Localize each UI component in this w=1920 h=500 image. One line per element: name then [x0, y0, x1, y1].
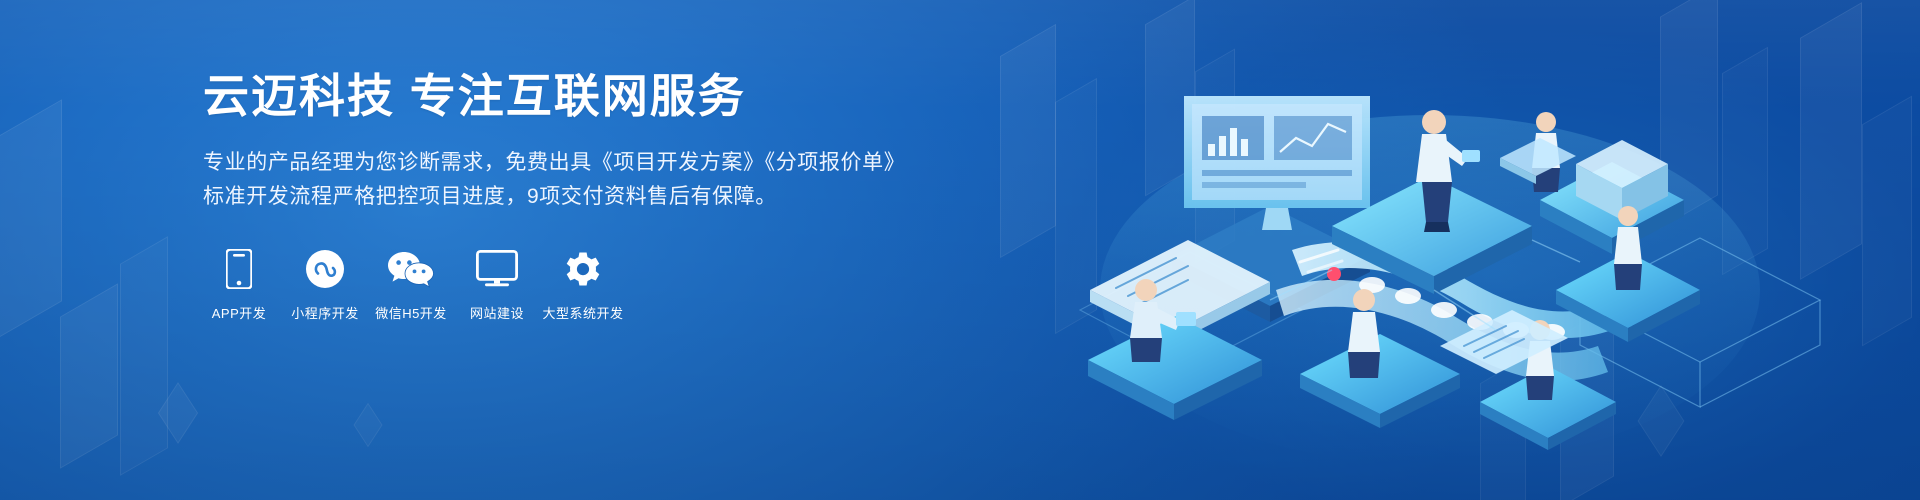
mobile-phone-icon [226, 248, 252, 290]
bg-prism [0, 99, 62, 343]
service-label: 微信H5开发 [375, 303, 447, 322]
service-label: APP开发 [212, 303, 267, 322]
wechat-icon [388, 248, 434, 290]
service-label: 小程序开发 [291, 303, 359, 322]
bg-diamond [354, 403, 383, 448]
banner-subtitle: 专业的产品经理为您诊断需求，免费出具《项目开发方案》《分项报价单》 标准开发流程… [203, 146, 963, 214]
banner-content: 云迈科技 专注互联网服务 专业的产品经理为您诊断需求，免费出具《项目开发方案》《… [203, 68, 963, 322]
isometric-illustration [940, 0, 1920, 500]
service-item-app[interactable]: APP开发 [203, 248, 275, 322]
gear-icon [563, 248, 603, 290]
service-item-wechat-h5[interactable]: 微信H5开发 [375, 248, 447, 322]
service-item-website[interactable]: 网站建设 [461, 248, 533, 322]
service-label: 网站建设 [470, 303, 524, 322]
hero-banner: 云迈科技 专注互联网服务 专业的产品经理为您诊断需求，免费出具《项目开发方案》《… [0, 0, 1920, 500]
service-item-system[interactable]: 大型系统开发 [547, 248, 619, 322]
monitor-icon [476, 248, 518, 290]
service-label: 大型系统开发 [543, 303, 624, 322]
bg-prism [120, 236, 168, 476]
service-list: APP开发 小程序开发 [203, 248, 963, 322]
bg-prism [60, 283, 118, 468]
subtitle-line-2: 标准开发流程严格把控项目进度，9项交付资料售后有保障。 [203, 180, 963, 214]
service-item-miniprogram[interactable]: 小程序开发 [289, 248, 361, 322]
subtitle-line-1: 专业的产品经理为您诊断需求，免费出具《项目开发方案》《分项报价单》 [203, 146, 963, 180]
page-title: 云迈科技 专注互联网服务 [203, 68, 963, 124]
mini-program-icon [305, 248, 345, 290]
